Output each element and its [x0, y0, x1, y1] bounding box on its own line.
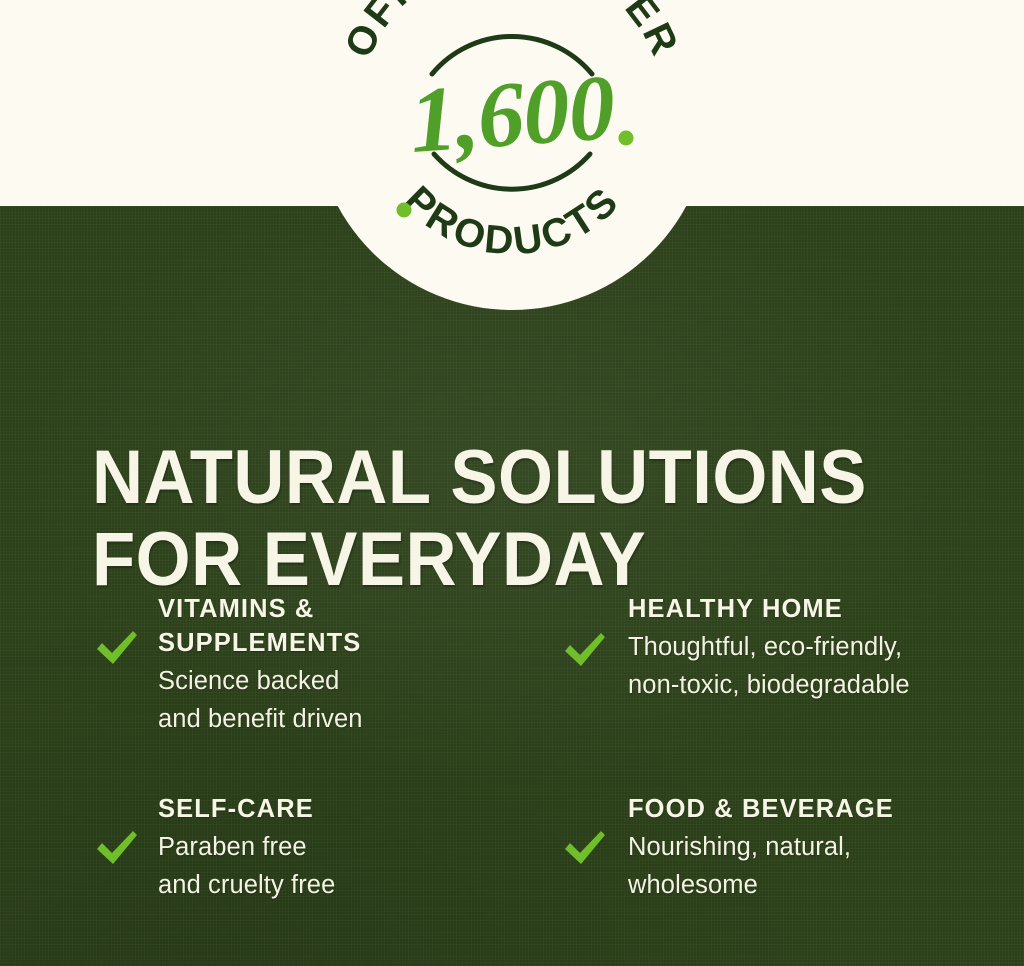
- benefit-desc-line-2: non-toxic, biodegradable: [628, 666, 992, 704]
- headline-line-1: NATURAL SOLUTIONS: [92, 437, 910, 519]
- benefit-desc-line-2: wholesome: [628, 866, 992, 904]
- benefit-desc-line-2: and cruelty free: [158, 866, 550, 904]
- benefit-title-line-1: SELF-CARE: [158, 795, 314, 823]
- benefit-desc-line-1: Thoughtful, eco-friendly,: [628, 628, 992, 666]
- benefit-desc-line-1: Paraben free: [158, 828, 550, 866]
- badge-arc-top-text: OFFERING OVER: [337, 0, 688, 64]
- benefit-title-line-1: FOOD & BEVERAGE: [628, 795, 894, 823]
- promotional-banner: OFFERING OVER PRODUCTS 1,600 NATURAL SOL…: [0, 0, 1024, 966]
- benefit-title-line-2: SUPPLEMENTS: [158, 629, 361, 657]
- benefit-title: SELF-CARE: [158, 792, 550, 826]
- benefit-desc-line-2: and benefit driven: [158, 700, 550, 738]
- badge-dot-left: [397, 203, 412, 218]
- benefit-item-food-beverage: FOOD & BEVERAGE Nourishing, natural, who…: [550, 792, 992, 904]
- benefit-description: Paraben free and cruelty free: [158, 828, 550, 904]
- benefit-item-vitamins-supplements: VITAMINS & SUPPLEMENTS Science backed an…: [92, 592, 550, 792]
- headline-line-2: FOR EVERYDAY: [92, 519, 910, 601]
- checkmark-icon: [94, 628, 140, 668]
- benefits-grid: VITAMINS & SUPPLEMENTS Science backed an…: [92, 592, 992, 904]
- product-count-badge: OFFERING OVER PRODUCTS 1,600: [314, 0, 710, 310]
- benefit-title-line-1: VITAMINS &: [158, 595, 314, 623]
- benefit-description: Thoughtful, eco-friendly, non-toxic, bio…: [628, 628, 992, 704]
- checkmark-icon: [562, 828, 608, 868]
- checkmark-icon: [94, 828, 140, 868]
- benefit-description: Nourishing, natural, wholesome: [628, 828, 992, 904]
- benefit-description: Science backed and benefit driven: [158, 662, 550, 738]
- checkmark-icon: [562, 630, 608, 670]
- benefit-item-healthy-home: HEALTHY HOME Thoughtful, eco-friendly, n…: [550, 592, 992, 792]
- benefit-title: HEALTHY HOME: [628, 592, 992, 626]
- benefit-desc-line-1: Science backed: [158, 662, 550, 700]
- page-title: NATURAL SOLUTIONS FOR EVERYDAY: [92, 437, 910, 601]
- benefit-item-self-care: SELF-CARE Paraben free and cruelty free: [92, 792, 550, 904]
- benefit-desc-line-1: Nourishing, natural,: [628, 828, 992, 866]
- benefit-title-line-1: HEALTHY HOME: [628, 595, 843, 623]
- benefit-title: FOOD & BEVERAGE: [628, 792, 992, 826]
- benefit-title: VITAMINS & SUPPLEMENTS: [158, 592, 550, 660]
